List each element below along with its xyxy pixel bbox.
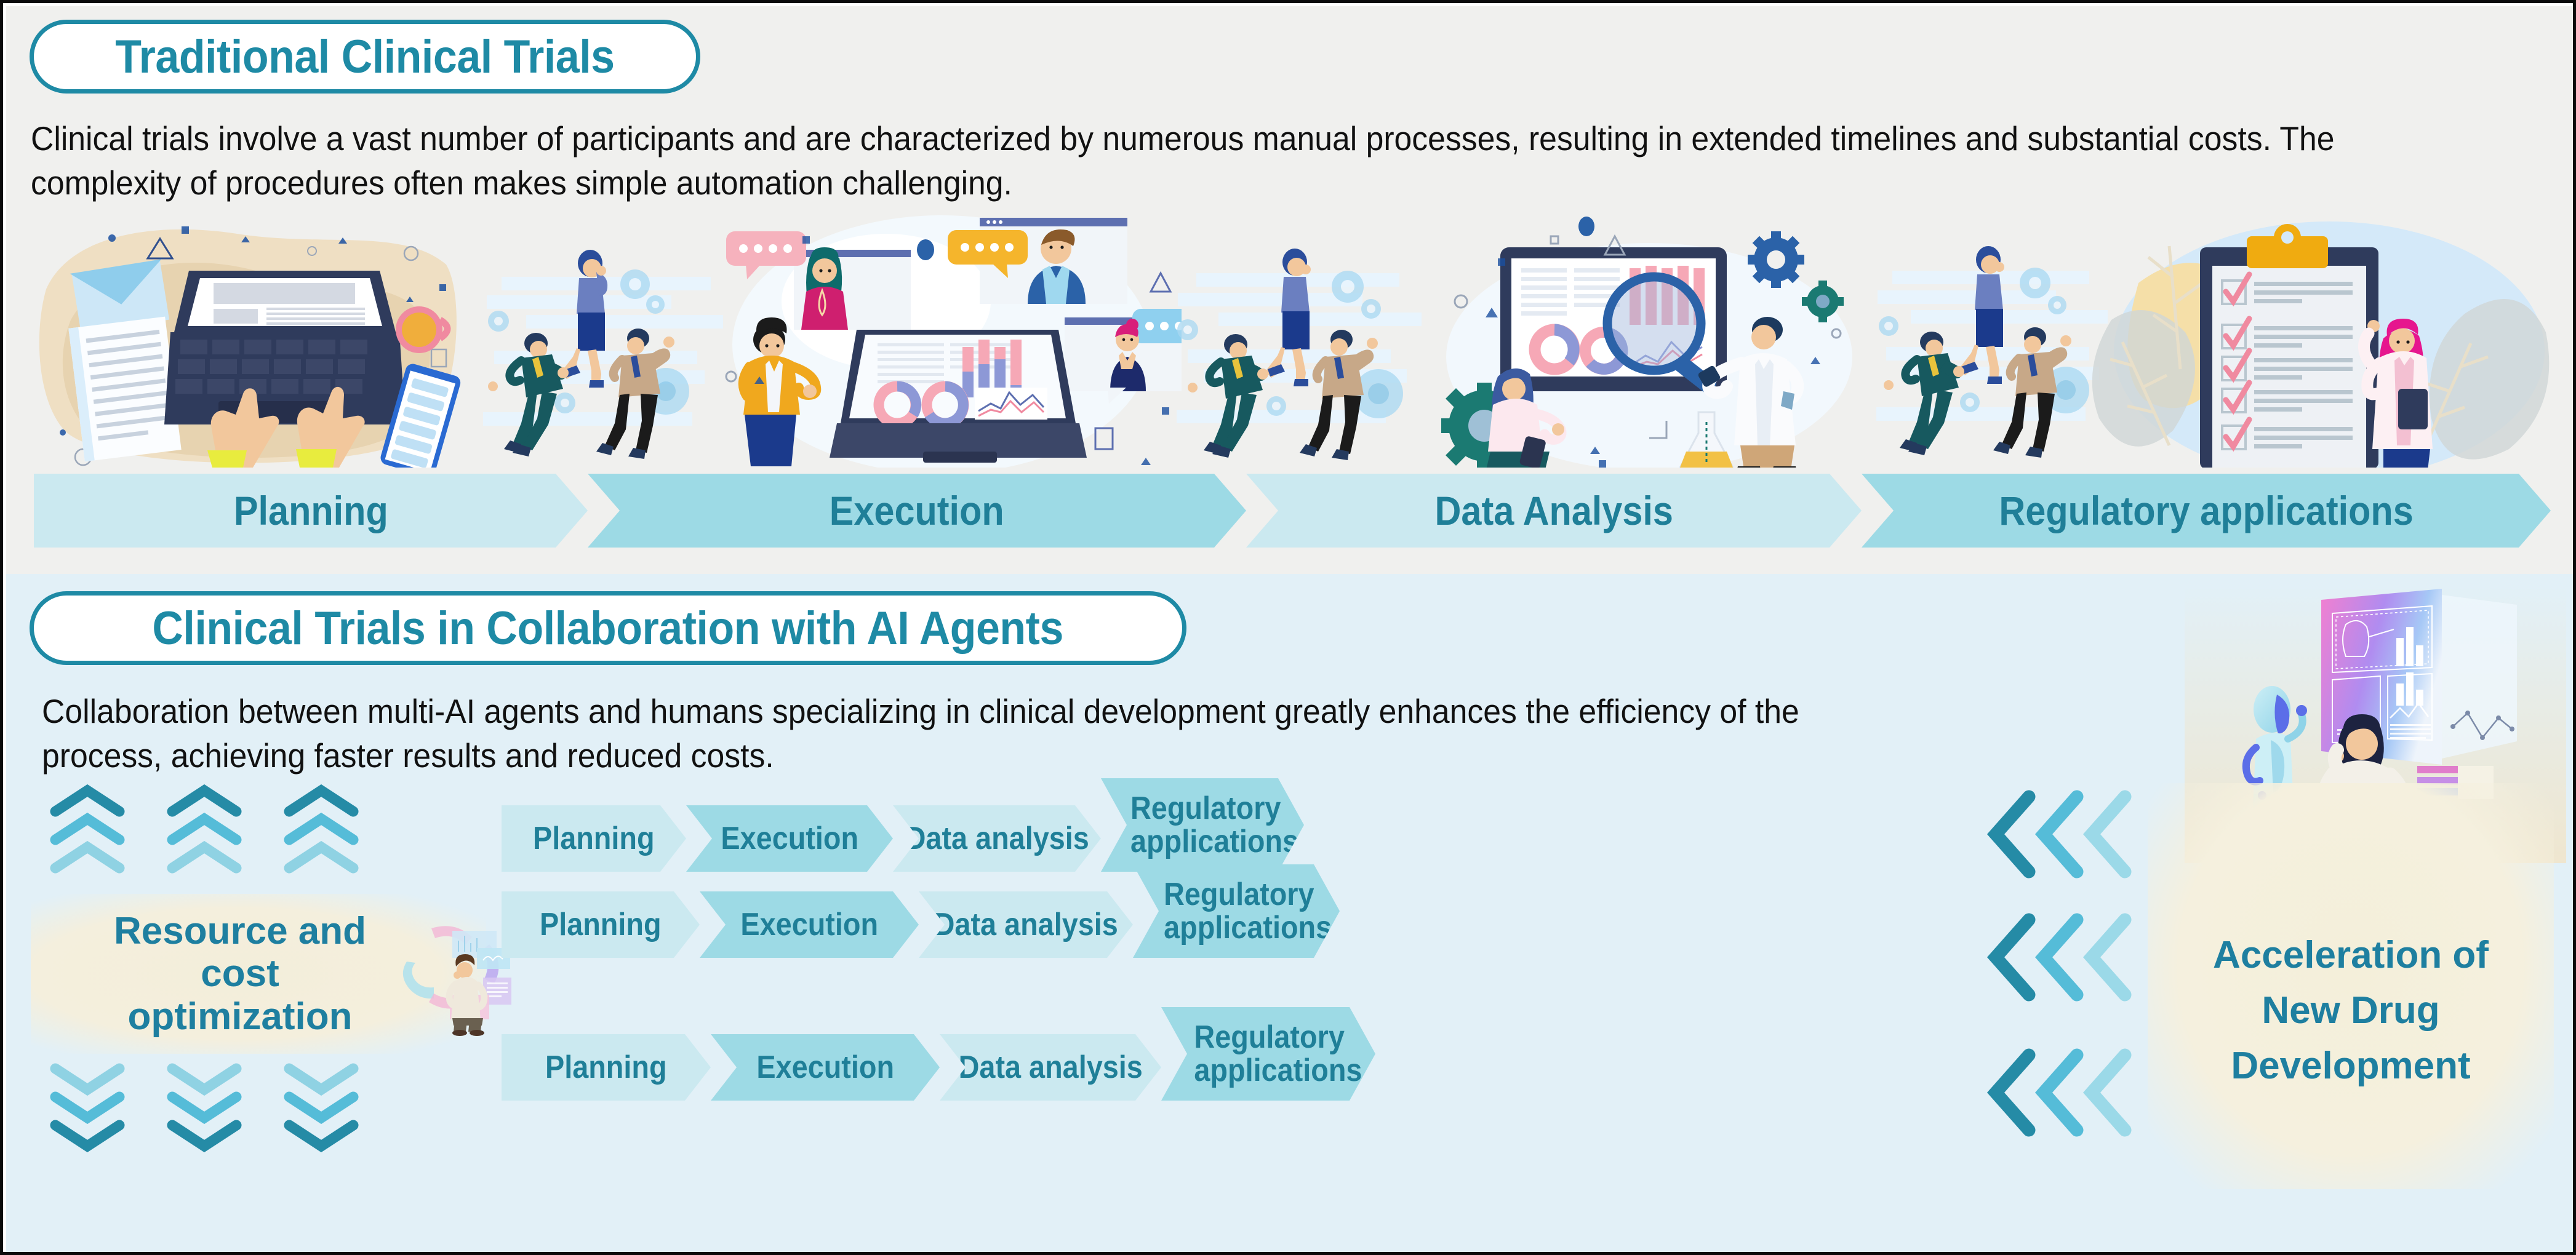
ai-process-row-1: Planning Execution Data analysis Regulat… <box>502 805 1351 872</box>
resource-line-2: cost <box>68 952 412 995</box>
data-analysis-illustration <box>1434 209 1865 468</box>
accel-line-2: New Drug <box>2213 983 2489 1038</box>
resource-line-1: Resource and <box>68 910 412 952</box>
process-step-planning[interactable]: Planning <box>34 474 588 548</box>
infographic-frame: Traditional Clinical Trials Clinical tri… <box>0 0 2576 1255</box>
ai-step-planning-row3[interactable]: Planning <box>502 1034 711 1101</box>
execution-videocall-illustration <box>702 209 1182 468</box>
running-people-illustration-1 <box>465 209 729 468</box>
running-people-illustration-2 <box>1163 209 1434 468</box>
process-step-execution[interactable]: Execution <box>588 474 1246 548</box>
ai-step-execution-row1[interactable]: Execution <box>686 805 893 872</box>
person-viewing-data-cycle-illustration <box>391 914 520 1037</box>
ai-step-regulatory-applications-row1[interactable]: Regulatory applications <box>1101 778 1304 872</box>
ai-process-row-2: Planning Execution Data analysis Regulat… <box>502 891 1388 958</box>
left-chevron-set-2 <box>1985 911 2145 1003</box>
resource-cost-optimization-label: Resource and cost optimization <box>68 910 412 1038</box>
ai-step-regulatory-applications-row2[interactable]: Regulatory applications <box>1133 864 1340 958</box>
resource-cost-optimization-panel: Resource and cost optimization <box>31 894 486 1054</box>
ai-step-execution-row3[interactable]: Execution <box>711 1034 940 1101</box>
ai-step-regulatory-applications-row3[interactable]: Regulatory applications <box>1161 1007 1375 1101</box>
running-people-illustration-3 <box>1868 209 2114 468</box>
planning-desk-illustration <box>34 209 465 468</box>
traditional-title-pill: Traditional Clinical Trials <box>30 20 700 94</box>
ai-agents-title-pill: Clinical Trials in Collaboration with AI… <box>30 591 1186 665</box>
regulatory-clipboard-illustration <box>2089 209 2551 468</box>
ai-process-row-3: Planning Execution Data analysis Regulat… <box>502 1034 1425 1101</box>
accel-line-3: Development <box>2213 1038 2489 1094</box>
ai-step-execution-row2[interactable]: Execution <box>700 891 919 958</box>
traditional-clinical-trials-section: Traditional Clinical Trials Clinical tri… <box>6 6 2576 574</box>
acceleration-new-drug-development-panel: Acceleration of New Drug Development <box>2148 783 2554 1189</box>
process-step-data-analysis[interactable]: Data Analysis <box>1246 474 1862 548</box>
process-step-regulatory-applications[interactable]: Regulatory applications <box>1862 474 2551 548</box>
down-chevron-group <box>43 1060 437 1158</box>
traditional-body-text: Clinical trials involve a vast number of… <box>31 117 2379 205</box>
up-chevron-group <box>43 783 437 882</box>
ai-step-data-analysis-row2[interactable]: Data analysis <box>919 891 1133 958</box>
ai-step-planning-row2[interactable]: Planning <box>502 891 700 958</box>
ai-step-data-analysis-row1[interactable]: Data analysis <box>893 805 1101 872</box>
left-chevron-set-3 <box>1985 1046 2145 1139</box>
left-chevron-set-1 <box>1985 788 2145 880</box>
traditional-illustration-strip <box>34 209 2551 468</box>
ai-agents-clinical-trials-section: Clinical Trials in Collaboration with AI… <box>6 574 2576 1255</box>
ai-step-data-analysis-row3[interactable]: Data analysis <box>940 1034 1161 1101</box>
ai-agents-body-text: Collaboration between multi-AI agents an… <box>42 690 1922 778</box>
resource-line-3: optimization <box>68 995 412 1038</box>
traditional-process-bar: Planning Execution Data Analysis Regulat… <box>34 474 2551 548</box>
acceleration-label: Acceleration of New Drug Development <box>2213 928 2489 1094</box>
ai-agents-title-text: Clinical Trials in Collaboration with AI… <box>153 602 1064 655</box>
ai-step-planning-row1[interactable]: Planning <box>502 805 686 872</box>
accel-line-1: Acceleration of <box>2213 928 2489 983</box>
traditional-title-text: Traditional Clinical Trials <box>115 30 614 84</box>
